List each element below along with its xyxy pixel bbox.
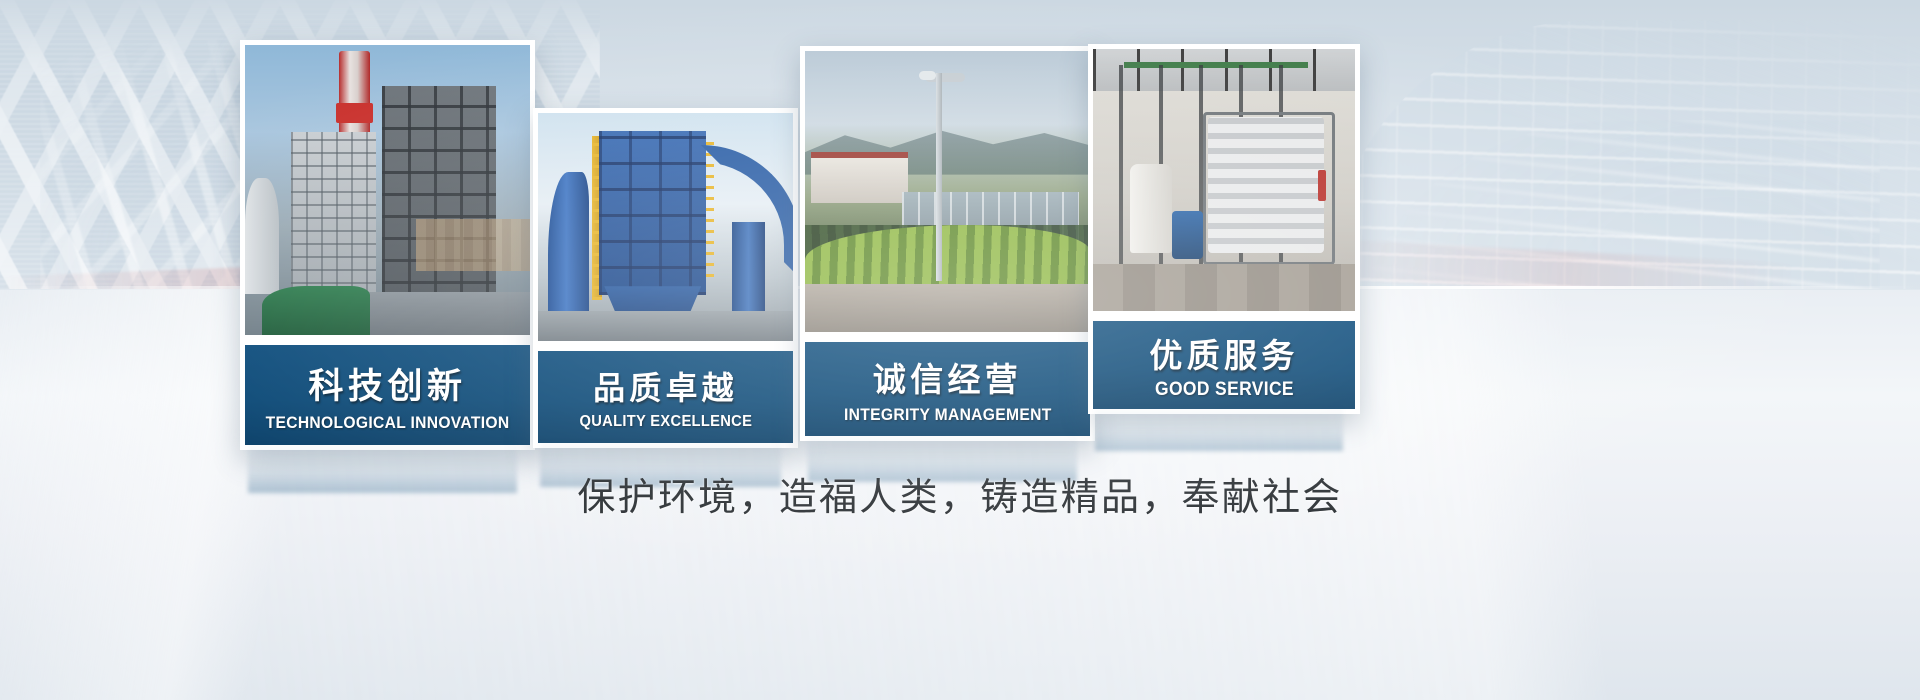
panel-title-cn-technological-innovation: 科技创新 <box>308 358 466 409</box>
panel-reflection-good-service <box>1095 405 1343 451</box>
panel-title-cn-quality-excellence: 品质卓越 <box>593 363 738 409</box>
panel-caption-quality-excellence: 品质卓越 QUALITY EXCELLENCE <box>538 351 793 443</box>
panel-title-cn-integrity-management: 诚信经营 <box>873 353 1022 401</box>
panel-caption-good-service: 优质服务 GOOD SERVICE <box>1093 321 1355 409</box>
panel-title-en-technological-innovation: TECHNOLOGICAL INNOVATION <box>266 413 510 433</box>
panel-photo-good-service <box>1093 49 1355 311</box>
panel-photo-quality-excellence <box>538 113 793 341</box>
banner-tagline: 保护环境，造福人类，铸造精品，奉献社会 <box>0 466 1920 521</box>
panel-quality-excellence[interactable]: 品质卓越 QUALITY EXCELLENCE <box>533 108 798 448</box>
panel-caption-technological-innovation: 科技创新 TECHNOLOGICAL INNOVATION <box>245 345 530 445</box>
panel-title-en-quality-excellence: QUALITY EXCELLENCE <box>579 413 752 431</box>
panel-title-en-good-service: GOOD SERVICE <box>1155 379 1294 401</box>
panel-photo-technological-innovation <box>245 45 530 335</box>
panel-caption-integrity-management: 诚信经营 INTEGRITY MANAGEMENT <box>805 342 1090 436</box>
panel-title-en-integrity-management: INTEGRITY MANAGEMENT <box>844 405 1052 425</box>
company-culture-banner: 科技创新 TECHNOLOGICAL INNOVATION 品质卓越 QUALI… <box>0 0 1920 700</box>
panel-title-cn-good-service: 优质服务 <box>1149 329 1298 377</box>
panel-good-service[interactable]: 优质服务 GOOD SERVICE <box>1088 44 1360 414</box>
panel-photo-integrity-management <box>805 51 1090 332</box>
panel-group: 科技创新 TECHNOLOGICAL INNOVATION 品质卓越 QUALI… <box>0 0 1920 700</box>
panel-technological-innovation[interactable]: 科技创新 TECHNOLOGICAL INNOVATION <box>240 40 535 450</box>
panel-integrity-management[interactable]: 诚信经营 INTEGRITY MANAGEMENT <box>800 46 1095 441</box>
